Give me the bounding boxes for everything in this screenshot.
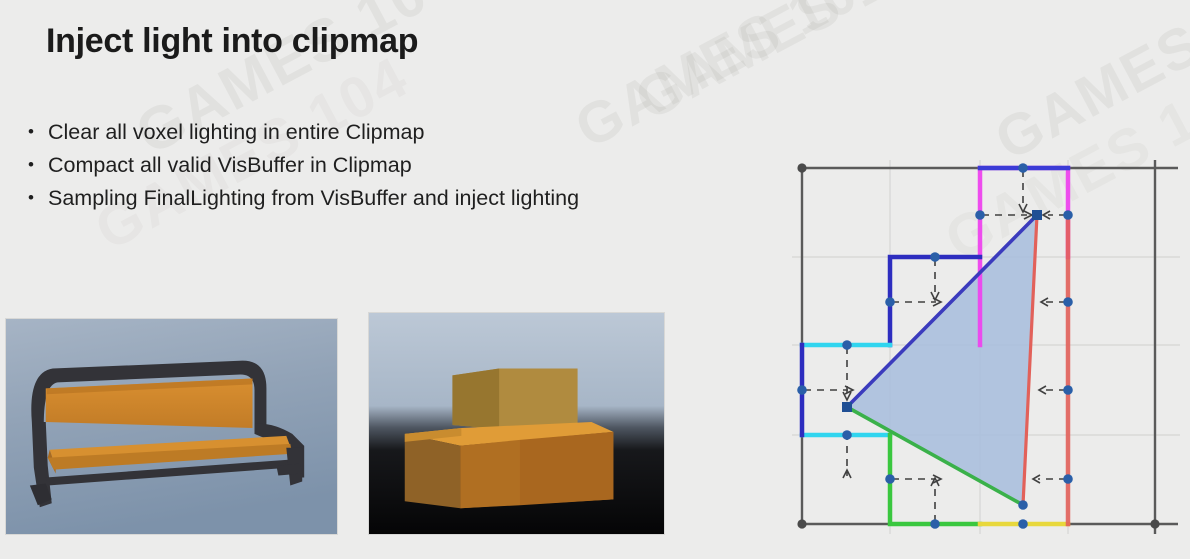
list-item-label: Compact all valid VisBuffer in Clipmap bbox=[48, 149, 412, 181]
clipmap-diagram-svg bbox=[770, 130, 1190, 550]
list-item: • Compact all valid VisBuffer in Clipmap bbox=[14, 149, 579, 181]
rendered-bench-smooth-image bbox=[5, 318, 338, 535]
page-title: Inject light into clipmap bbox=[46, 22, 418, 61]
list-item-label: Sampling FinalLighting from VisBuffer an… bbox=[48, 182, 579, 214]
bench-smooth-illustration bbox=[6, 319, 337, 534]
bullet-list: • Clear all voxel lighting in entire Cli… bbox=[14, 116, 579, 215]
list-item: • Sampling FinalLighting from VisBuffer … bbox=[14, 182, 579, 214]
bullet-marker-icon: • bbox=[14, 149, 48, 181]
rendered-bench-voxelized-image bbox=[368, 312, 665, 535]
bullet-marker-icon: • bbox=[14, 182, 48, 214]
bench-voxel-illustration bbox=[369, 313, 664, 534]
clipmap-rasterization-diagram bbox=[770, 130, 1190, 550]
list-item: • Clear all voxel lighting in entire Cli… bbox=[14, 116, 579, 148]
bullet-marker-icon: • bbox=[14, 116, 48, 148]
list-item-label: Clear all voxel lighting in entire Clipm… bbox=[48, 116, 424, 148]
watermark-text: GAMES 104 bbox=[624, 0, 959, 134]
